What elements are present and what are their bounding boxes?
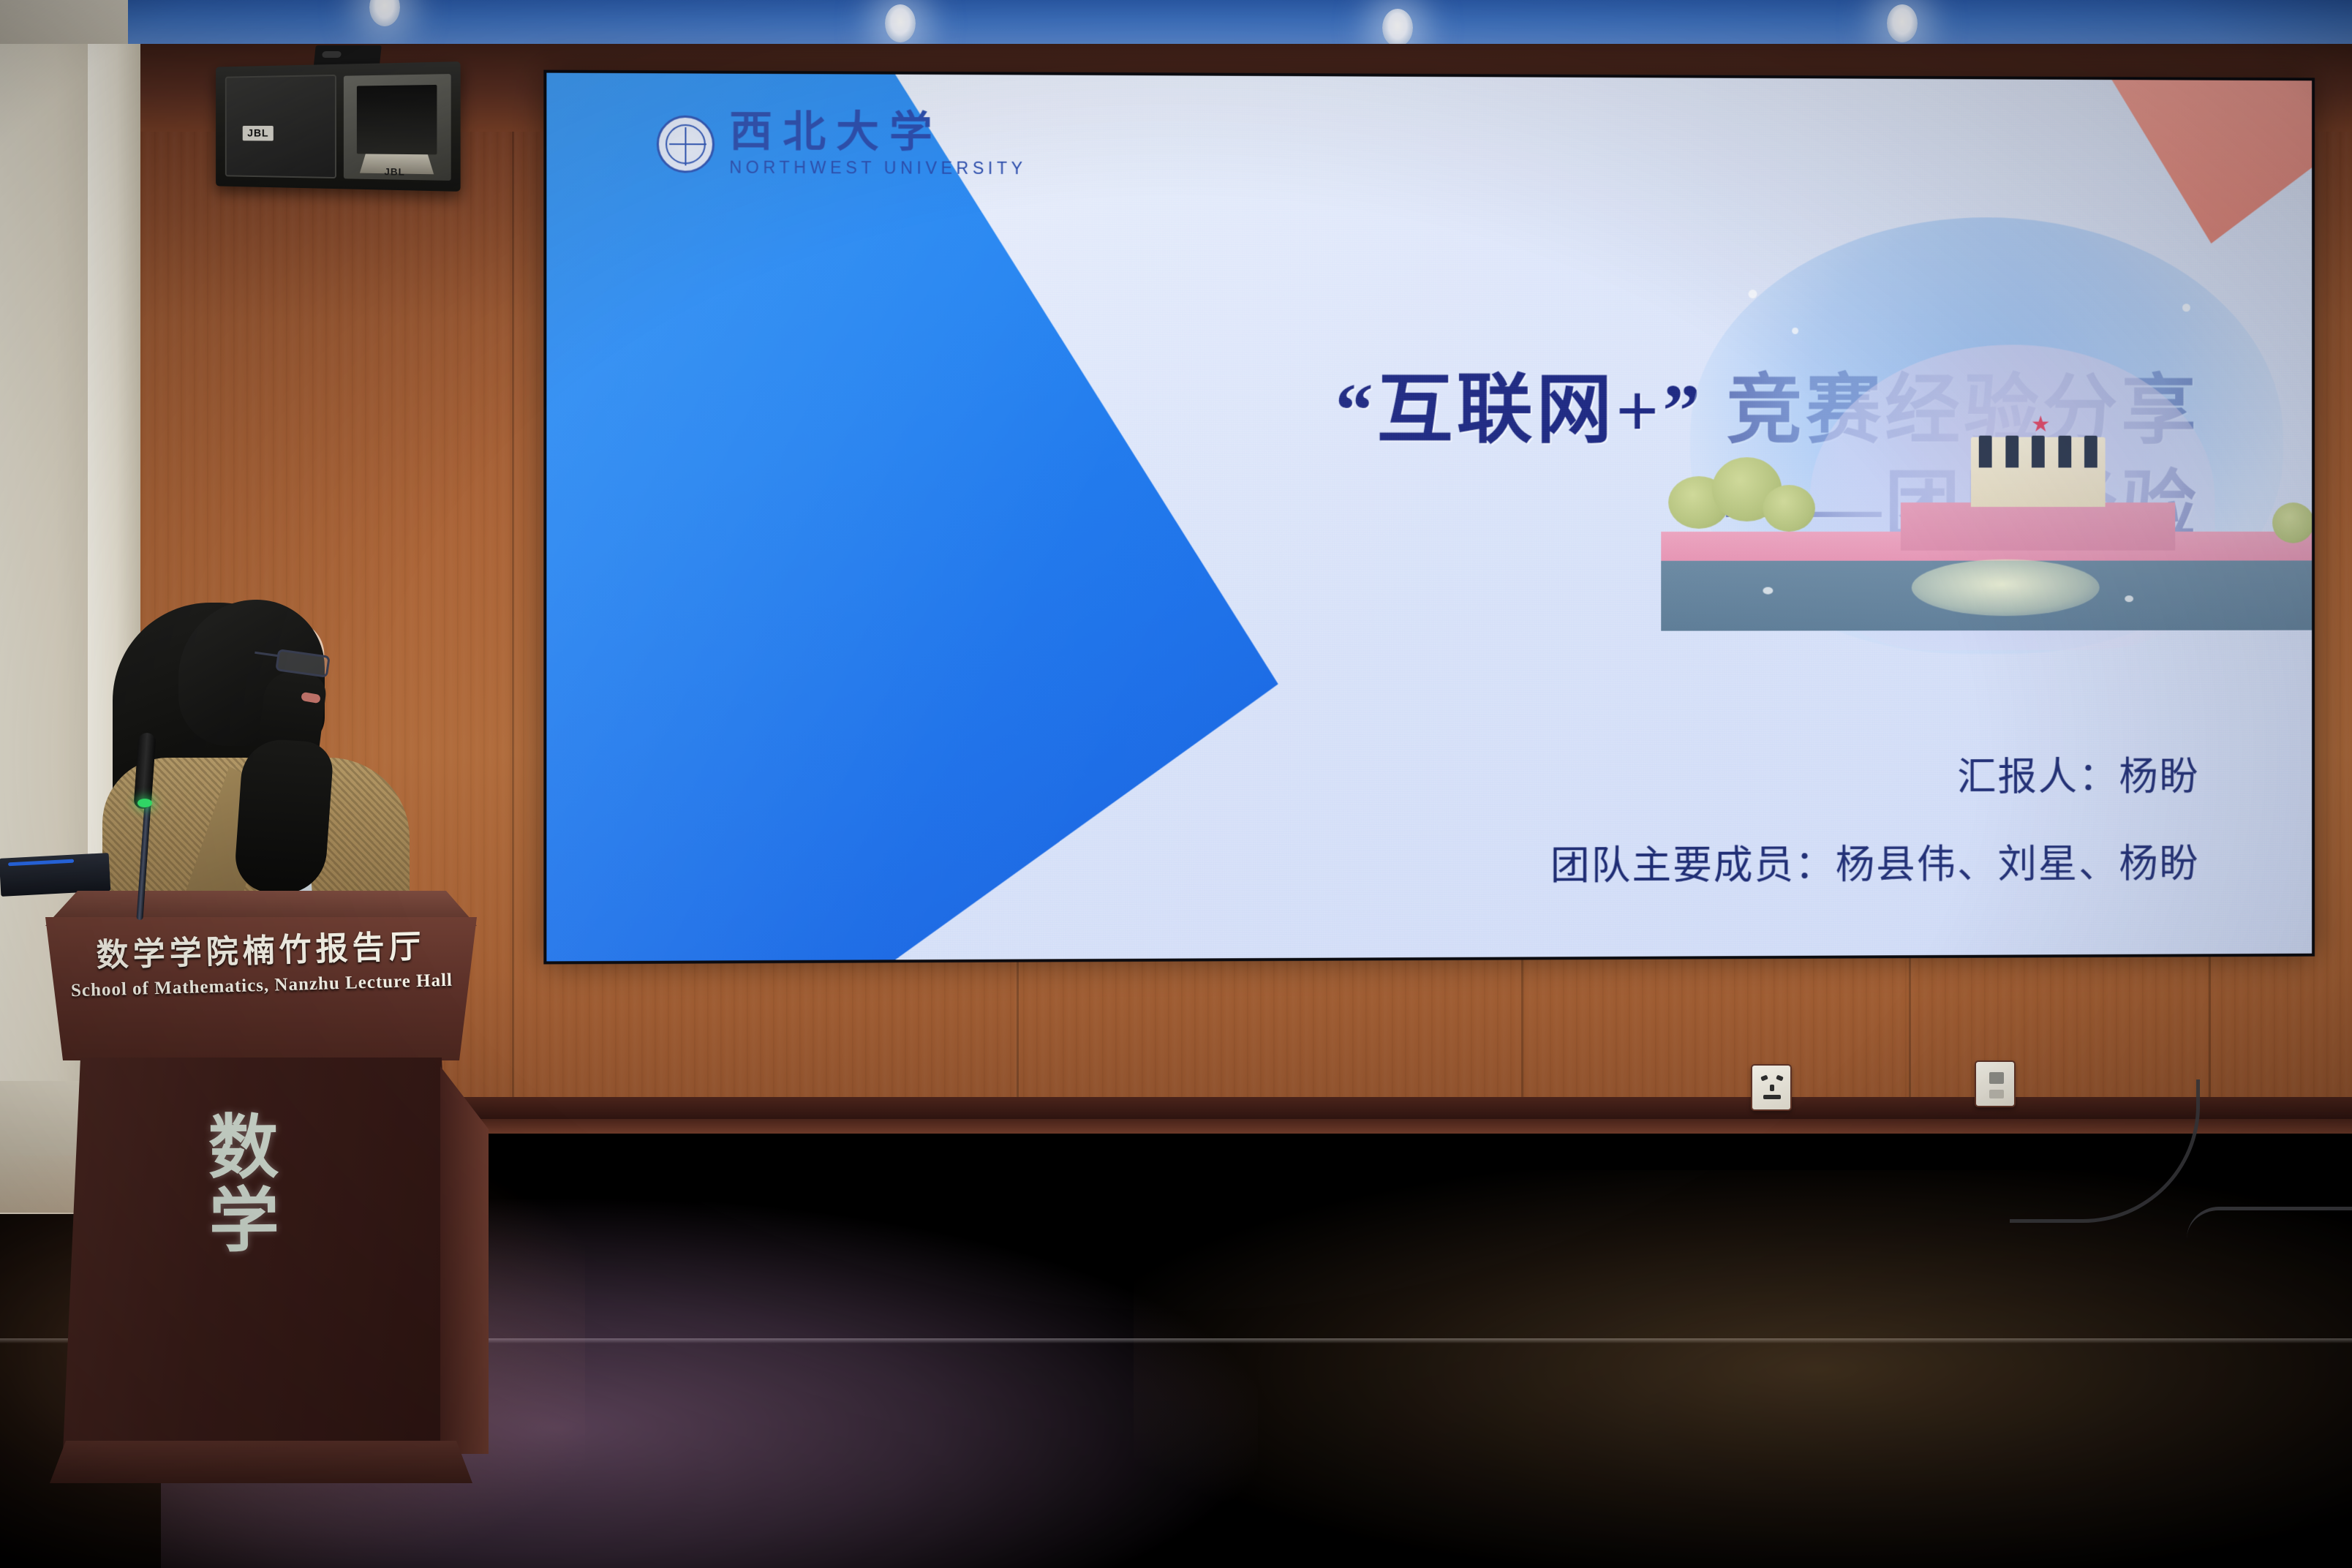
hair-drape (233, 737, 334, 897)
illustration-foam (1912, 559, 2100, 617)
university-name-en: NORTHWEST UNIVERSITY (729, 158, 1026, 179)
power-socket[interactable] (1751, 1064, 1792, 1111)
ceiling-downlight (1887, 4, 1918, 42)
podium-base (50, 1441, 472, 1483)
illustration-speck (1763, 587, 1773, 595)
university-name-cn: 西北大学 (729, 110, 1026, 154)
slide-blue-chevron-shape (546, 73, 1278, 962)
illustration-building-columns (1979, 436, 2097, 468)
venue-sign: 数学学院楠竹报告厅 School of Mathematics, Nanzhu … (45, 919, 478, 1002)
lecture-hall-photo: JBL JBL ★ (0, 0, 2352, 1568)
laptop[interactable] (0, 853, 110, 897)
network-port[interactable] (1975, 1060, 2016, 1107)
ceiling-downlight (885, 4, 916, 42)
illustration-speck (2125, 595, 2133, 602)
ceiling-downlight (1382, 9, 1413, 47)
network-cable (2187, 1207, 2352, 1239)
illustration-building-base (1901, 502, 2175, 551)
university-logo: 西北大学 NORTHWEST UNIVERSITY (657, 110, 1027, 178)
lectern-podium: 数学学院楠竹报告厅 School of Mathematics, Nanzhu … (45, 891, 477, 1498)
jbl-loudspeaker: JBL JBL (216, 61, 460, 192)
red-star-icon: ★ (2031, 415, 2050, 434)
school-seal-emblem: 数学 (176, 1109, 273, 1293)
presentation-slide[interactable]: ★ 西北大学 NORTHWEST UNIVERSITY “互联网+” (546, 73, 2312, 962)
slide-team-members-line: 团队主要成员：杨县伟、刘星、杨盼 (546, 831, 2312, 894)
jbl-logo-horn: JBL (379, 165, 410, 179)
illustration-speck (1792, 328, 1798, 334)
podium-side-panel (440, 1066, 489, 1454)
jbl-logo-badge: JBL (243, 126, 274, 141)
illustration-speck (1749, 290, 1757, 298)
university-seal-icon (657, 115, 715, 173)
speaker-grill (225, 75, 336, 178)
illustration-speck (2182, 304, 2190, 312)
illustration-foliage (2272, 502, 2312, 543)
led-display-frame: ★ 西北大学 NORTHWEST UNIVERSITY “互联网+” (543, 70, 2315, 965)
illustration-foliage (1763, 485, 1814, 532)
slide-watercolor-illustration: ★ (1661, 216, 2312, 611)
wall-seam (512, 132, 514, 1119)
microphone-status-led (137, 799, 152, 807)
slide-presenter-line: 汇报人：杨盼 (546, 744, 2312, 806)
